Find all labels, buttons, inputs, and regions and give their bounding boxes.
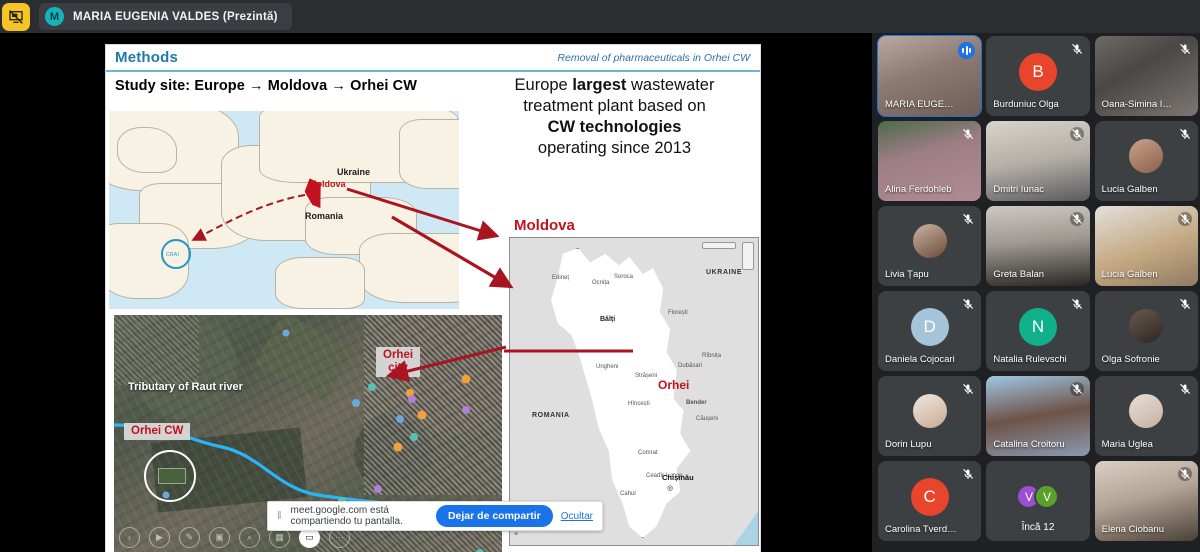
mic-off-icon <box>1070 127 1084 141</box>
participant-tile[interactable]: NNatalia Rulevschi <box>986 291 1089 371</box>
shared-screen-stage[interactable]: Methods Removal of pharmaceuticals in Or… <box>0 33 872 552</box>
participant-name: Dmitri Iunac <box>993 184 1067 195</box>
avatar <box>913 394 947 428</box>
slide-running-title: Removal of pharmaceuticals in Orhei CW <box>557 52 750 64</box>
participant-name: Oana-Simina Iac... <box>1102 99 1176 110</box>
mic-off-icon <box>1070 42 1084 56</box>
blurb-line-1: Europe largest wastewater <box>472 75 757 96</box>
participant-name: Alina Ferdohleb <box>885 184 959 195</box>
md-town-11: Căușeni <box>696 416 718 422</box>
participant-name: Elena Ciobanu <box>1102 524 1176 535</box>
participant-tile[interactable]: Lucia Galben <box>1095 206 1198 286</box>
search-icon[interactable]: ⌕ <box>239 527 260 548</box>
mic-off-icon <box>1178 297 1192 311</box>
presentation-slide: Methods Removal of pharmaceuticals in Or… <box>105 44 761 552</box>
participant-grid[interactable]: MARIA EUGENIA ...BBurduniuc OlgaOana-Sim… <box>876 36 1200 552</box>
participant-tile[interactable]: Greta Balan <box>986 206 1089 286</box>
participant-name: Încă 12 <box>986 522 1089 533</box>
md-orhei-label: Orhei <box>658 378 689 392</box>
participant-name: Carolina Tverdoh... <box>885 524 959 535</box>
mic-off-icon <box>1070 382 1084 396</box>
participant-tile[interactable]: Oana-Simina Iac... <box>1095 36 1198 116</box>
moldova-country-shape <box>534 248 704 538</box>
avatar: N <box>1019 308 1057 346</box>
europe-map-arrows <box>109 111 499 309</box>
meet-top-bar: M MARIA EUGENIA VALDES (Prezintă) <box>0 0 1200 33</box>
map-zoom-control[interactable] <box>742 242 754 270</box>
screen-share-off-icon[interactable] <box>2 3 30 31</box>
participant-name: Livia Țapu <box>885 269 959 280</box>
participant-name: Greta Balan <box>993 269 1067 280</box>
avatar: V <box>1034 484 1059 509</box>
pen-icon[interactable]: ✎ <box>179 527 200 548</box>
orhei-city-line2: city <box>383 362 413 375</box>
orhei-cw-circle <box>144 450 196 502</box>
md-capital-label: Chișinău <box>662 473 694 482</box>
present-icon[interactable]: ▣ <box>209 527 230 548</box>
participant-name: Olga Sofronie <box>1102 354 1176 365</box>
mic-off-icon <box>1070 297 1084 311</box>
cw-pond-shape <box>158 468 186 484</box>
participant-tile[interactable]: BBurduniuc Olga <box>986 36 1089 116</box>
avatar <box>1129 394 1163 428</box>
md-town-1: Ocnița <box>592 280 609 286</box>
blurb-line-4: operating since 2013 <box>472 138 757 159</box>
participant-name: Lucia Galben <box>1102 269 1176 280</box>
mic-off-icon <box>1178 212 1192 226</box>
participant-tile[interactable]: Dorin Lupu <box>878 376 981 456</box>
md-town-10: Bender <box>686 400 707 406</box>
participant-name: Burduniuc Olga <box>993 99 1067 110</box>
participant-tile[interactable]: Alina Ferdohleb <box>878 121 981 201</box>
participant-tile[interactable]: Maria Uglea <box>1095 376 1198 456</box>
mic-off-icon <box>1178 127 1192 141</box>
participant-name: Maria Uglea <box>1102 439 1176 450</box>
black-sea-water <box>718 489 758 545</box>
participant-tile[interactable]: DDaniela Cojocari <box>878 291 981 371</box>
share-status-text: meet.google.com está compartiendo tu pan… <box>291 505 428 527</box>
mic-off-icon <box>961 127 975 141</box>
map-scale-control[interactable] <box>702 242 736 249</box>
blurb-line-2: treatment plant based on <box>472 96 757 117</box>
avatar: C <box>911 478 949 516</box>
md-town-8: Strășeni <box>635 373 657 379</box>
md-neighbor-ukraine: UKRAINE <box>706 269 742 276</box>
tributary-label: Tributary of Raut river <box>128 381 243 393</box>
md-town-5: Rîbnița <box>702 353 721 359</box>
participant-tile[interactable]: Elena Ciobanu <box>1095 461 1198 541</box>
participant-name: Daniela Cojocari <box>885 354 959 365</box>
mic-off-icon <box>961 212 975 226</box>
md-town-14: Cahul <box>620 491 636 497</box>
orhei-city-label: Orhei city <box>376 347 420 377</box>
avatar <box>1129 309 1163 343</box>
presenter-name: MARIA EUGENIA VALDES (Prezintă) <box>73 11 278 23</box>
blurb-1c: wastewater <box>626 76 714 94</box>
md-town-4: Bălți <box>600 316 615 323</box>
mic-off-icon <box>961 297 975 311</box>
md-town-9: Hîncești <box>628 401 650 407</box>
avatar: D <box>911 308 949 346</box>
participant-name: Natalia Rulevschi <box>993 354 1067 365</box>
participant-tile[interactable]: VVÎncă 12 <box>986 461 1089 541</box>
md-town-3: Florești <box>668 310 688 316</box>
screen-share-notification-bar: ‖ meet.google.com está compartiendo tu p… <box>267 501 603 531</box>
md-town-7: Dubăsari <box>678 363 702 369</box>
mic-off-icon <box>1070 212 1084 226</box>
capital-marker-icon: ◎ <box>667 484 673 492</box>
md-neighbor-romania: ROMANIA <box>532 412 570 419</box>
md-town-2: Soroca <box>614 274 633 280</box>
slide-blurb: Europe largest wastewater treatment plan… <box>472 75 757 159</box>
participant-tile[interactable]: Olga Sofronie <box>1095 291 1198 371</box>
overflow-avatars: VV <box>1016 484 1059 509</box>
presenter-avatar: M <box>45 7 64 26</box>
stop-sharing-button[interactable]: Dejar de compartir <box>436 505 553 527</box>
play-icon[interactable]: ▶ <box>149 527 170 548</box>
participant-tile[interactable]: CCarolina Tverdoh... <box>878 461 981 541</box>
hide-sharing-bar-link[interactable]: Ocultar <box>561 511 593 522</box>
back-icon[interactable]: ‹ <box>119 527 140 548</box>
mic-off-icon <box>961 467 975 481</box>
md-town-12: Comrat <box>638 450 658 456</box>
participant-name: Lucia Galben <box>1102 184 1176 195</box>
presenter-chip[interactable]: M MARIA EUGENIA VALDES (Prezintă) <box>39 3 292 30</box>
participant-name: Dorin Lupu <box>885 439 959 450</box>
orhei-city-line1: Orhei <box>383 349 413 362</box>
blurb-line-3: CW technologies <box>472 117 757 138</box>
map-attribution: ≡ <box>514 531 524 541</box>
mic-off-icon <box>1178 382 1192 396</box>
participant-name: Catalina Croitoru <box>993 439 1067 450</box>
md-town-0: Edineț <box>552 275 569 281</box>
pause-icon: ‖ <box>277 510 283 522</box>
avatar <box>1129 139 1163 173</box>
participant-tile[interactable]: Lucia Galben <box>1095 121 1198 201</box>
participant-tile[interactable]: Livia Țapu <box>878 206 981 286</box>
participant-tile[interactable]: Catalina Croitoru <box>986 376 1089 456</box>
orhei-cw-label: Orhei CW <box>124 423 190 440</box>
mic-off-icon <box>1178 42 1192 56</box>
blurb-1b: largest <box>572 76 626 94</box>
participant-name: MARIA EUGENIA ... <box>885 99 959 110</box>
participant-tile[interactable]: Dmitri Iunac <box>986 121 1089 201</box>
md-town-6: Ungheni <box>596 364 618 370</box>
avatar <box>913 224 947 258</box>
avatar: B <box>1019 53 1057 91</box>
europe-map-image: Ukraine Moldova Romania CRAI <box>109 111 499 309</box>
slide-section-title: Methods <box>115 49 178 66</box>
blurb-1a: Europe <box>515 76 573 94</box>
mic-off-icon <box>1178 467 1192 481</box>
moldova-heading: Moldova <box>514 217 575 234</box>
slide-header: Methods Removal of pharmaceuticals in Or… <box>106 45 760 72</box>
moldova-map-panel: UKRAINE ROMANIA Edineț Ocnița Soroca Flo… <box>509 237 759 546</box>
participant-tile[interactable]: MARIA EUGENIA ... <box>878 36 981 116</box>
mic-off-icon <box>961 382 975 396</box>
